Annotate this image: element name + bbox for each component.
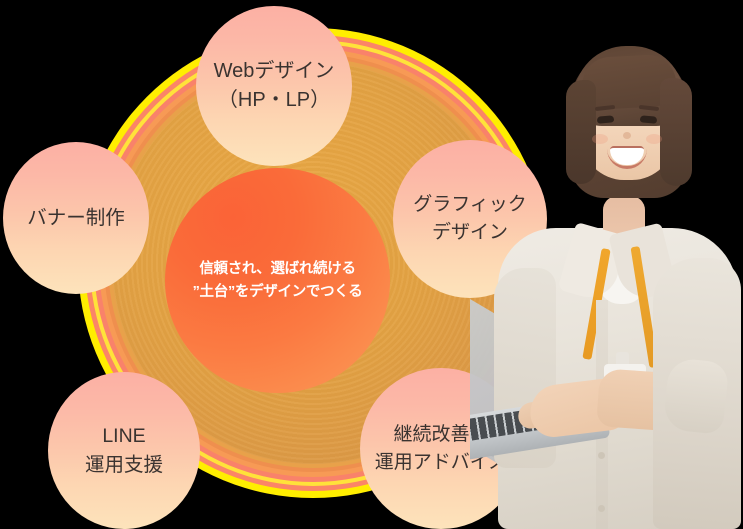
bubble-line-support-line-2: 運用支援: [85, 451, 163, 479]
center-core-circle: 信頼され、選ばれ続ける ”土台”をデザインでつくる: [165, 168, 390, 393]
hair-side-left: [566, 80, 596, 184]
eye-right: [640, 115, 658, 123]
bubble-web-design[interactable]: Webデザイン （HP・LP）: [196, 6, 352, 166]
cheek-left: [592, 134, 608, 144]
shirt-button-3: [598, 505, 605, 512]
service-diagram-graphic: 信頼され、選ばれ続ける ”土台”をデザインでつくる Webデザイン （HP・LP…: [0, 0, 743, 529]
core-tagline-line-1: 信頼され、選ばれ続ける: [199, 258, 355, 280]
bubble-web-design-line-2: （HP・LP）: [218, 86, 330, 115]
bubble-web-design-line-1: Webデザイン: [214, 57, 335, 86]
apple-logo-icon: [470, 352, 484, 376]
bubble-banner-production-line-1: バナー制作: [27, 204, 125, 232]
bubble-line-support-line-1: LINE: [102, 422, 145, 450]
bubble-line-support[interactable]: LINE 運用支援: [48, 372, 200, 529]
cheek-right: [646, 134, 662, 144]
core-tagline-line-2: ”土台”をデザインでつくる: [193, 281, 363, 303]
photo-woman-with-laptop: [470, 0, 743, 529]
shirt-cuff: [662, 357, 729, 435]
shirt-button-2: [598, 452, 605, 459]
eye-left: [597, 115, 615, 123]
hair-side-right: [660, 78, 692, 186]
nose: [623, 132, 631, 139]
bubble-banner-production[interactable]: バナー制作: [3, 142, 149, 294]
